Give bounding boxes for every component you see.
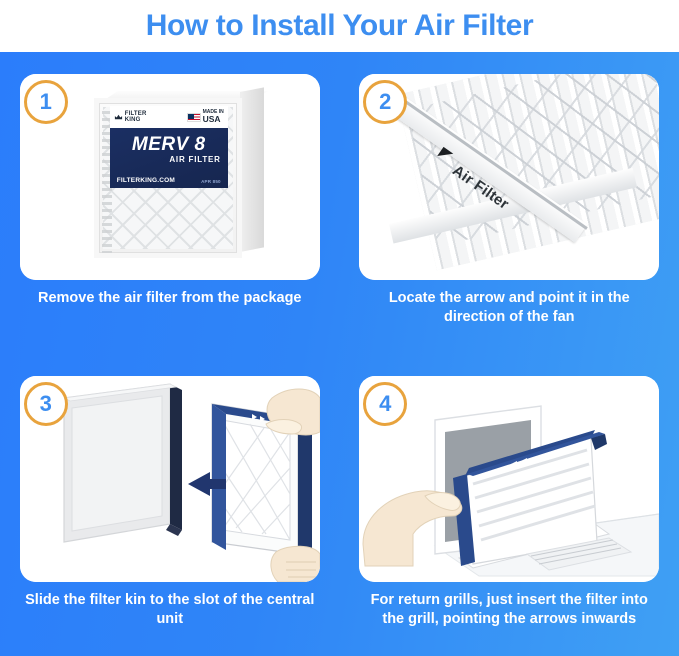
brand-text-block: FILTER KING [125, 111, 147, 124]
merv-rating: MERV 8 [117, 135, 221, 154]
central-unit [64, 384, 182, 542]
step-3-number: 3 [40, 393, 52, 415]
step-3-badge: 3 [24, 382, 68, 426]
step-2-caption: Locate the arrow and point it in the dir… [364, 289, 654, 327]
step-2-card: 2 Air Filter [359, 74, 659, 280]
step-3-card: 3 [20, 376, 320, 582]
filter-side-face [240, 87, 264, 252]
brand-line-2: KING [125, 117, 147, 123]
country-label: USA [203, 115, 224, 124]
product-label-header: FILTER KING MADE IN USA [110, 106, 228, 128]
step-4-number: 4 [379, 393, 391, 415]
product-label: FILTER KING MADE IN USA [110, 106, 228, 188]
hand-lower [271, 546, 320, 582]
product-label-footer: FILTERKING.COM APR 850 [117, 177, 221, 184]
step-1-number: 1 [40, 91, 52, 113]
product-type: AIR FILTER [117, 155, 221, 164]
step-3-caption: Slide the filter kin to the slot of the … [25, 591, 315, 629]
air-filter-product: FILTER KING MADE IN USA [94, 92, 264, 260]
website-url: FILTERKING.COM [117, 177, 175, 184]
page-title: How to Install Your Air Filter [146, 9, 533, 43]
made-in-usa-lockup: MADE IN USA [187, 110, 224, 124]
infographic-root: How to Install Your Air Filter 1 [0, 0, 679, 656]
step-1-caption: Remove the air filter from the package [25, 289, 315, 308]
step-2-number: 2 [379, 91, 391, 113]
step-2: 2 Air Filter Locate the arro [340, 52, 679, 354]
step-3: 3 [0, 354, 340, 656]
apr-rating-code: APR 850 [201, 179, 221, 184]
step-1-badge: 1 [24, 80, 68, 124]
merv-block: MERV 8 AIR FILTER [117, 135, 221, 164]
product-label-body: MERV 8 AIR FILTER FILTERKING.COM APR 850 [110, 128, 228, 188]
made-in-text-block: MADE IN USA [203, 110, 224, 124]
step-4-badge: 4 [363, 382, 407, 426]
step-4-card: 4 [359, 376, 659, 582]
step-4: 4 [340, 354, 679, 656]
step-4-caption: For return grills, just insert the filte… [364, 591, 654, 629]
step-1: 1 [0, 52, 340, 354]
steps-grid: 1 [0, 52, 679, 656]
hand-upper [266, 389, 320, 435]
step-2-badge: 2 [363, 80, 407, 124]
brand-lockup: FILTER KING [114, 111, 147, 124]
steps-background: 1 [0, 52, 679, 656]
usa-flag-icon [187, 113, 201, 122]
step-1-card: 1 [20, 74, 320, 280]
crown-icon [114, 113, 123, 122]
header: How to Install Your Air Filter [0, 0, 679, 52]
